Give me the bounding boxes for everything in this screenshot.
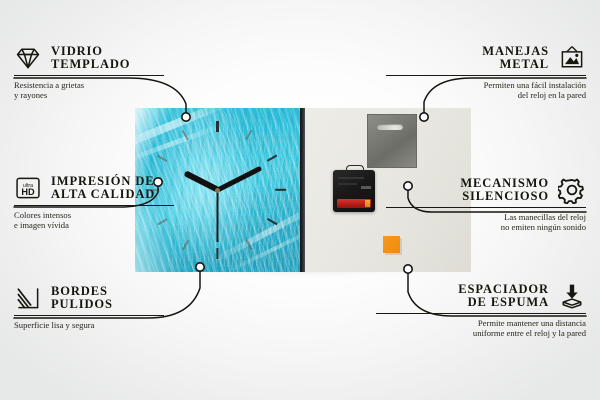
feature-desc-line1: Superficie lisa y segura (14, 320, 164, 330)
feature-desc-line2: e imagen vívida (14, 220, 174, 230)
clock-tick-11 (182, 130, 190, 141)
foam-spacer-arrow-icon (558, 282, 586, 310)
clock-mechanism (333, 170, 375, 212)
clock-second-hand (217, 190, 219, 242)
svg-text:HD: HD (21, 187, 35, 197)
title-divider (386, 75, 586, 76)
clock-hour-hand (183, 171, 219, 193)
title-divider (376, 313, 586, 314)
feature-desc-line1: Resistencia a grietas (14, 80, 164, 90)
feature-title: BORDES PULIDOS (51, 285, 113, 312)
feature-desc-line1: Colores intensos (14, 210, 174, 220)
feature-desc-line2: y rayones (14, 90, 164, 100)
mechanism-hook (346, 165, 364, 173)
clock-tick-6 (216, 248, 218, 259)
feature-title: MANEJAS METAL (482, 45, 549, 72)
title-divider (14, 205, 174, 206)
clock-tick-4 (267, 218, 278, 226)
feature-title: VIDRIO TEMPLADO (51, 45, 130, 72)
feature-desc-line2: del reloj en la pared (386, 90, 586, 100)
feature-header: MANEJAS METAL (386, 44, 586, 72)
clock-tick-2 (267, 154, 278, 162)
feature-manejas-metal: MANEJAS METAL Permiten una fácil instala… (386, 44, 586, 100)
clock-minute-hand (216, 166, 262, 192)
feature-header: MECANISMO SILENCIOSO (386, 176, 586, 204)
mechanism-groove (338, 177, 364, 179)
feature-desc-line1: Permiten una fácil instalación (386, 80, 586, 90)
feature-vidrio-templado: VIDRIO TEMPLADO Resistencia a grietas y … (14, 44, 164, 100)
feature-impresion-alta-calidad: ultra HD IMPRESIÓN DE ALTA CALIDAD Color… (14, 174, 174, 230)
feature-title: ESPACIADOR DE ESPUMA (458, 283, 549, 310)
title-divider (14, 315, 164, 316)
feature-header: ultra HD IMPRESIÓN DE ALTA CALIDAD (14, 174, 174, 202)
title-divider (386, 207, 586, 208)
clock-tick-12 (216, 121, 218, 132)
wall-mount-picture-icon (558, 44, 586, 72)
infographic-canvas: VIDRIO TEMPLADO Resistencia a grietas y … (0, 0, 600, 400)
diamond-icon (14, 44, 42, 72)
feature-desc-line2: no emiten ningún sonido (386, 222, 586, 232)
clock-tick-10 (157, 154, 168, 162)
polished-edges-icon (14, 284, 42, 312)
feature-desc-line2: uniforme entre el reloj y la pared (376, 328, 586, 338)
feature-header: ESPACIADOR DE ESPUMA (376, 282, 586, 310)
feature-espaciador-espuma: ESPACIADOR DE ESPUMA Permite mantener un… (376, 282, 586, 338)
mechanism-label (361, 186, 371, 189)
feature-mecanismo-silencioso: MECANISMO SILENCIOSO Las manecillas del … (386, 176, 586, 232)
battery (337, 199, 371, 208)
gear-icon (558, 176, 586, 204)
feature-bordes-pulidos: BORDES PULIDOS Superficie lisa y segura (14, 284, 164, 330)
clock-tick-3 (276, 189, 287, 191)
clock-tick-7 (182, 240, 190, 251)
feature-desc-line1: Las manecillas del reloj (386, 212, 586, 222)
feature-title: MECANISMO SILENCIOSO (460, 177, 549, 204)
hanger-keyhole-slot (377, 124, 403, 130)
feature-header: BORDES PULIDOS (14, 284, 164, 312)
feature-desc-line1: Permite mantener una distancia (376, 318, 586, 328)
clock-tick-5 (245, 240, 253, 251)
feature-header: VIDRIO TEMPLADO (14, 44, 164, 72)
clock-tick-1 (245, 130, 253, 141)
mechanism-groove (338, 183, 357, 185)
clock-center-pin (215, 188, 220, 193)
hanger-plate (367, 114, 417, 168)
foam-spacer (383, 236, 400, 253)
feature-title: IMPRESIÓN DE ALTA CALIDAD (51, 175, 155, 202)
title-divider (14, 75, 164, 76)
ultra-hd-icon: ultra HD (14, 174, 42, 202)
